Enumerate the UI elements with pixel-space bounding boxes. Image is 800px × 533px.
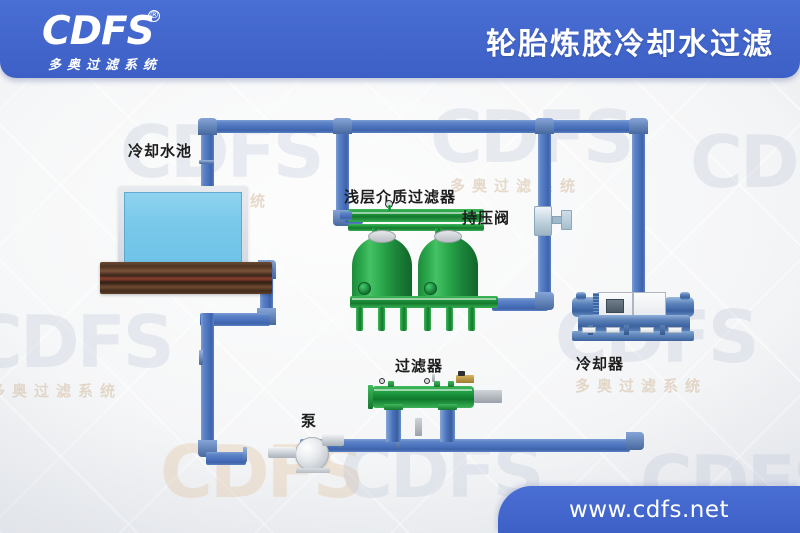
cooler-label-plate bbox=[582, 327, 596, 333]
label-pressure-holding-valve: 持压阀 bbox=[462, 207, 510, 228]
footer-url-bar[interactable]: www.cdfs.net bbox=[498, 486, 800, 533]
filter-nozzle bbox=[434, 381, 440, 387]
filter-nozzle bbox=[388, 381, 394, 387]
pressure-valve-body bbox=[534, 206, 552, 236]
pipe-elbow-mid-right bbox=[535, 292, 554, 310]
cooler-right-cylinder bbox=[664, 297, 694, 317]
filter-control-valve bbox=[456, 375, 474, 383]
tank-right-port bbox=[424, 282, 437, 295]
pump-discharge-nozzle bbox=[322, 434, 344, 446]
footer-url-text: www.cdfs.net bbox=[569, 497, 729, 523]
label-pump: 泵 bbox=[301, 410, 317, 431]
tank-left-port bbox=[358, 282, 371, 295]
manifold-leg bbox=[446, 307, 453, 331]
filter-drain-stub bbox=[415, 418, 422, 436]
pipe-tee-filter-inlet bbox=[333, 118, 352, 134]
tank-left-manhole bbox=[368, 230, 396, 243]
pipe-elbow-top-right bbox=[629, 118, 648, 134]
page-header: CDFS ® 多奥过滤系统 轮胎炼胶冷却水过滤 bbox=[0, 0, 800, 78]
cooler-left-nozzle bbox=[576, 292, 586, 300]
cooler-right-nozzle bbox=[680, 292, 690, 300]
logo-wordmark: CDFS ® bbox=[42, 12, 154, 52]
brand-logo: CDFS ® 多奥过滤系统 bbox=[42, 12, 262, 70]
logo-text: CDFS bbox=[42, 9, 154, 54]
pipe-tee-right bbox=[535, 118, 554, 134]
pipe-cooler-feed-riser bbox=[632, 126, 645, 306]
logo-subtitle: 多奥过滤系统 bbox=[42, 54, 262, 73]
pump-base-plate bbox=[296, 468, 330, 473]
pipe-pump-suction bbox=[206, 452, 246, 465]
filter-nozzle bbox=[448, 381, 454, 387]
cooler-label-plate bbox=[640, 327, 654, 333]
filter-valve-actuator bbox=[458, 371, 465, 376]
pipe-pump-discharge bbox=[300, 439, 630, 452]
cooler-label-plate bbox=[668, 327, 682, 333]
filter-gauge-icon bbox=[424, 378, 430, 384]
tank-right-manhole bbox=[434, 230, 462, 243]
label-cooler: 冷却器 bbox=[576, 353, 624, 374]
cooler-label-plate bbox=[606, 327, 620, 333]
pipe-elbow-top-left bbox=[198, 118, 217, 135]
label-shallow-media-filter: 浅层介质过滤器 bbox=[344, 186, 456, 207]
filter-leg-right bbox=[440, 406, 455, 442]
manifold-leg bbox=[356, 307, 363, 331]
cooling-pool-wood-base bbox=[100, 262, 272, 294]
manifold-leg bbox=[378, 307, 385, 331]
pipe-top-main bbox=[200, 120, 645, 133]
filter-vessel-outlet bbox=[474, 390, 502, 403]
manifold-leg bbox=[424, 307, 431, 331]
cooler-display-screen bbox=[606, 299, 624, 313]
diagram-canvas: CDFS 多奥过滤系统 CDFS 多奥过滤系统 CDFS CDFS 多奥过滤系统… bbox=[0, 0, 800, 533]
pipe-flange-pump-in bbox=[243, 447, 247, 462]
filter-probe bbox=[432, 374, 435, 382]
label-filter: 过滤器 bbox=[395, 355, 443, 376]
registered-trademark-icon: ® bbox=[148, 10, 160, 22]
filter-vessel-highlight bbox=[374, 389, 472, 391]
cooler-foot bbox=[660, 325, 665, 335]
gauge-stem bbox=[388, 205, 391, 211]
filter-leg-left bbox=[386, 406, 401, 442]
filter-gauge-icon bbox=[379, 378, 385, 384]
cooler-foot bbox=[624, 325, 629, 335]
manifold-leg bbox=[400, 307, 407, 331]
pipe-suction-downcomer bbox=[201, 313, 214, 448]
manifold-inlet bbox=[340, 211, 352, 220]
pipe-flange bbox=[199, 160, 214, 164]
pressure-valve-actuator bbox=[561, 210, 572, 230]
label-cooling-pool: 冷却水池 bbox=[128, 140, 192, 161]
page-title: 轮胎炼胶冷却水过滤 bbox=[486, 19, 774, 63]
cooling-pool-water bbox=[124, 192, 242, 270]
pipe-elbow-bottom-right bbox=[626, 432, 644, 450]
pipe-flange bbox=[199, 350, 203, 365]
filter-vessel-endcap bbox=[368, 385, 373, 409]
filter-leg-collar bbox=[438, 404, 457, 410]
manifold-leg bbox=[468, 307, 475, 331]
filter-leg-collar bbox=[384, 404, 403, 410]
pump-suction-nozzle bbox=[268, 447, 296, 458]
manifold-highlight bbox=[352, 298, 496, 300]
